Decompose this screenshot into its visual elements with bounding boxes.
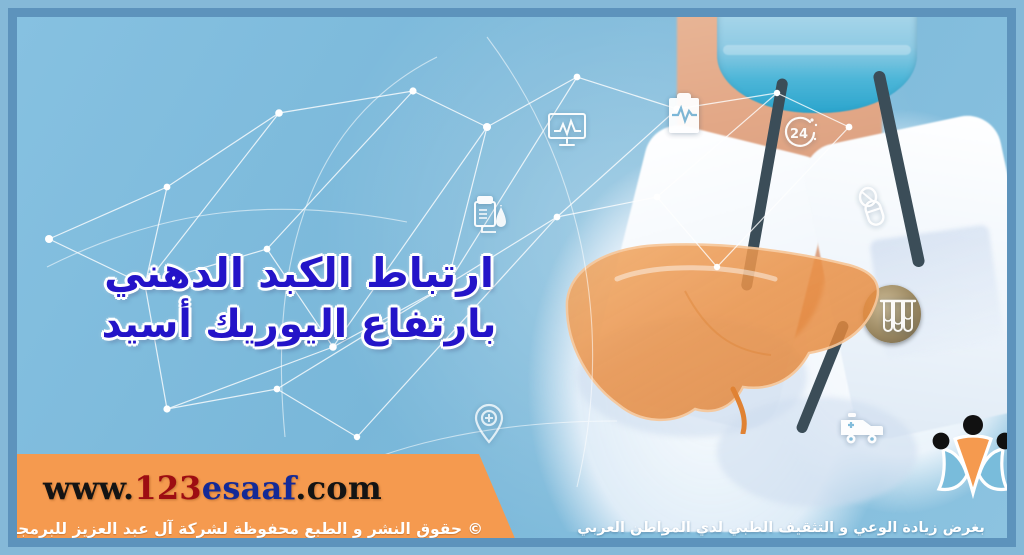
esaaf-logo[interactable] xyxy=(925,413,1007,499)
tagline-text: بغرض زيادة الوعي و التثقيف الطبي لدي الم… xyxy=(557,520,1005,536)
headline: ارتباط الكبد الدهني بارتفاع اليوريك أسيد xyxy=(39,251,559,346)
headline-line-2: بارتفاع اليوريك أسيد xyxy=(39,304,559,346)
24-hours-clock-icon: 24 xyxy=(779,113,819,153)
url-name: esaaf xyxy=(202,469,295,507)
website-url[interactable]: www.123esaaf.com xyxy=(43,469,382,507)
url-suffix: .com xyxy=(295,469,382,507)
pills-capsule-icon xyxy=(855,185,895,227)
svg-text:24: 24 xyxy=(790,127,808,142)
blood-pressure-icon xyxy=(472,195,510,235)
url-prefix: www. xyxy=(43,469,134,507)
test-tubes-icon xyxy=(877,297,917,337)
banner-image: 24 xyxy=(0,0,1024,555)
url-digits: 123 xyxy=(134,469,201,507)
ambulance-icon xyxy=(839,412,885,444)
location-pin-medical-icon xyxy=(472,402,506,444)
copyright-text: © حقوق النشر و الطبع محفوظة لشركة آل عبد… xyxy=(35,520,483,538)
heart-monitor-icon xyxy=(547,112,587,148)
clipboard-ecg-icon xyxy=(667,93,701,135)
headline-line-1: ارتباط الكبد الدهني xyxy=(39,251,559,295)
banner-content-area: 24 xyxy=(17,17,1007,538)
